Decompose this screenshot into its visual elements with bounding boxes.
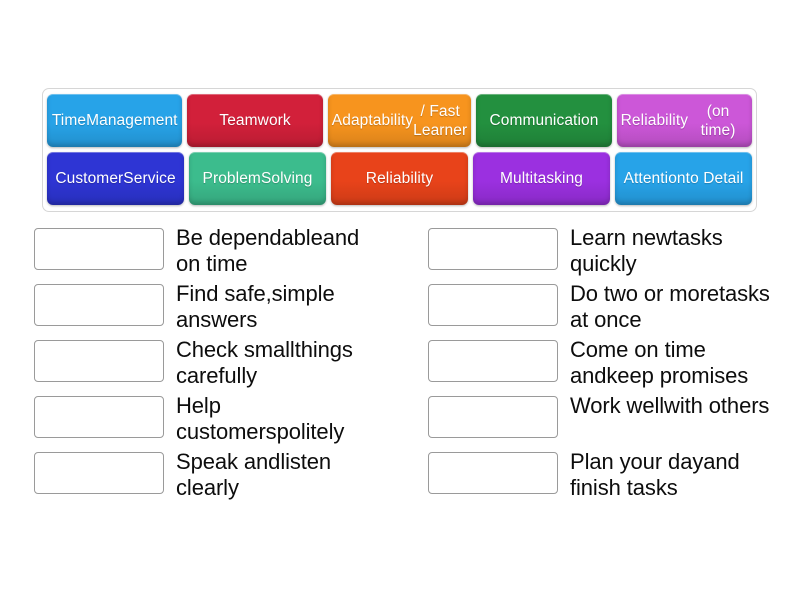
tile-bank-row-2: CustomerService ProblemSolving Reliabili…	[47, 152, 752, 205]
dropzone[interactable]	[34, 452, 164, 494]
dropzone[interactable]	[34, 284, 164, 326]
answer-row: Work wellwith others	[428, 396, 776, 438]
right-column: Learn newtasks quickly Do two or moretas…	[428, 228, 776, 494]
tile-adaptability-fast-learner[interactable]: Adaptability/ Fast Learner	[328, 94, 471, 147]
tile-bank-row-1: TimeManagement Teamwork Adaptability/ Fa…	[47, 94, 752, 147]
dropzone[interactable]	[34, 340, 164, 382]
answer-label: Plan your dayand finish tasks	[570, 449, 776, 500]
answer-label: Learn newtasks quickly	[570, 225, 776, 276]
dropzone[interactable]	[428, 452, 558, 494]
answer-label: Speak andlisten clearly	[176, 449, 382, 500]
answer-label: Be dependableand on time	[176, 225, 382, 276]
dropzone[interactable]	[428, 228, 558, 270]
dropzone[interactable]	[34, 396, 164, 438]
answer-label: Check smallthings carefully	[176, 337, 382, 388]
answer-label: Come on time andkeep promises	[570, 337, 776, 388]
tile-time-management[interactable]: TimeManagement	[47, 94, 182, 147]
tile-reliability-on-time[interactable]: Reliability(on time)	[617, 94, 752, 147]
tile-teamwork[interactable]: Teamwork	[187, 94, 322, 147]
dropzone[interactable]	[428, 284, 558, 326]
tile-customer-service[interactable]: CustomerService	[47, 152, 184, 205]
dropzone[interactable]	[428, 340, 558, 382]
answer-area: Be dependableand on time Find safe,simpl…	[34, 228, 776, 494]
answer-label: Help customerspolitely	[176, 393, 382, 444]
tile-problem-solving[interactable]: ProblemSolving	[189, 152, 326, 205]
answer-row: Plan your dayand finish tasks	[428, 452, 776, 494]
tile-communication[interactable]: Communication	[476, 94, 611, 147]
dropzone[interactable]	[428, 396, 558, 438]
tile-reliability[interactable]: Reliability	[331, 152, 468, 205]
tile-attention-to-detail[interactable]: Attentionto Detail	[615, 152, 752, 205]
answer-row: Learn newtasks quickly	[428, 228, 776, 270]
tile-multitasking[interactable]: Multitasking	[473, 152, 610, 205]
answer-row: Find safe,simple answers	[34, 284, 382, 326]
answer-label: Work wellwith others	[570, 393, 769, 419]
answer-label: Do two or moretasks at once	[570, 281, 776, 332]
left-column: Be dependableand on time Find safe,simpl…	[34, 228, 382, 494]
answer-row: Come on time andkeep promises	[428, 340, 776, 382]
dropzone[interactable]	[34, 228, 164, 270]
answer-row: Speak andlisten clearly	[34, 452, 382, 494]
tile-bank: TimeManagement Teamwork Adaptability/ Fa…	[42, 88, 757, 212]
activity-stage: TimeManagement Teamwork Adaptability/ Fa…	[0, 0, 800, 600]
answer-row: Help customerspolitely	[34, 396, 382, 438]
answer-row: Check smallthings carefully	[34, 340, 382, 382]
answer-row: Be dependableand on time	[34, 228, 382, 270]
answer-row: Do two or moretasks at once	[428, 284, 776, 326]
answer-label: Find safe,simple answers	[176, 281, 382, 332]
